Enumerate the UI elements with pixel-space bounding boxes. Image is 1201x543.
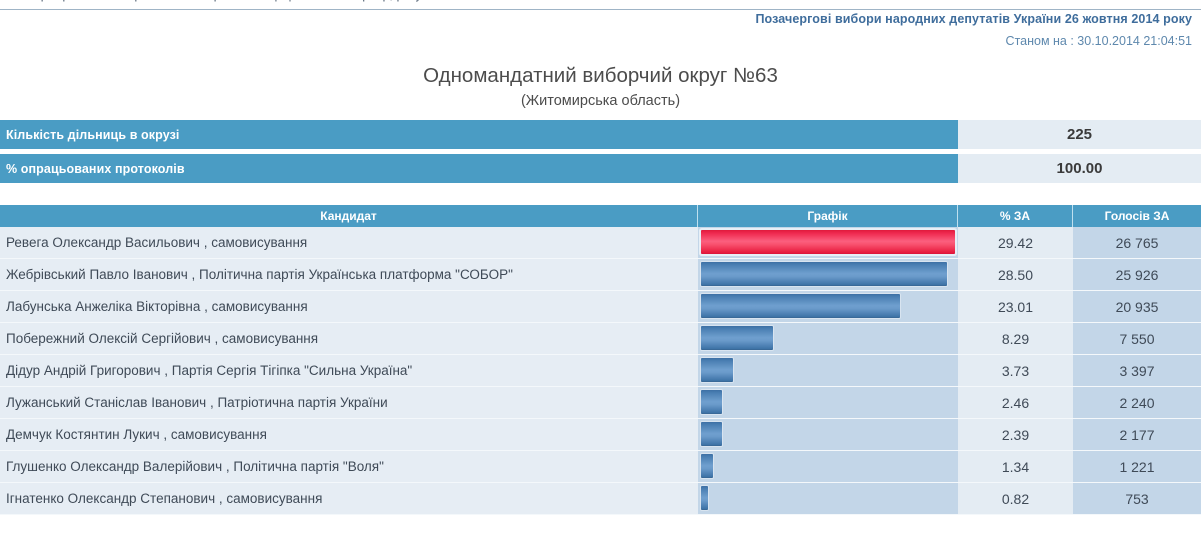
votes-value: 20 935 (1073, 291, 1201, 323)
result-bar (701, 326, 773, 350)
result-bar-track (698, 291, 958, 323)
results-table: Кандидат Графік % ЗА Голосів ЗА Ревега О… (0, 205, 1201, 515)
percent-value: 8.29 (958, 323, 1073, 355)
result-bar-track (698, 387, 958, 419)
top-cutoff-strip: Центральна виборча комісія України — офі… (0, 0, 1201, 10)
result-bar-track (698, 419, 958, 451)
column-header-percent[interactable]: % ЗА (958, 205, 1073, 227)
result-bar (701, 262, 947, 286)
result-bar (701, 454, 713, 478)
table-row[interactable]: Побережний Олексій Сергійович , самовису… (0, 323, 1201, 355)
candidate-name: Демчук Костянтин Лукич , самовисування (0, 419, 698, 451)
votes-value: 2 240 (1073, 387, 1201, 419)
votes-value: 26 765 (1073, 227, 1201, 259)
percent-value: 23.01 (958, 291, 1073, 323)
page-title: Одномандатний виборчий округ №63 (0, 63, 1201, 89)
result-bar-track (698, 451, 958, 483)
candidate-name: Ігнатенко Олександр Степанович , самовис… (0, 483, 698, 515)
candidate-name: Глушенко Олександр Валерійович , Політич… (0, 451, 698, 483)
result-bar-winner (701, 230, 955, 254)
column-header-votes[interactable]: Голосів ЗА (1073, 205, 1201, 227)
percent-value: 0.82 (958, 483, 1073, 515)
as-of-timestamp: Станом на : 30.10.2014 21:04:51 (0, 33, 1201, 49)
result-bar (701, 486, 708, 510)
summary-row: % опрацьованих протоколів 100.00 (0, 154, 1201, 183)
candidate-name: Дідур Андрій Григорович , Партія Сергія … (0, 355, 698, 387)
table-row[interactable]: Ігнатенко Олександр Степанович , самовис… (0, 483, 1201, 515)
percent-value: 2.46 (958, 387, 1073, 419)
percent-value: 28.50 (958, 259, 1073, 291)
table-row[interactable]: Лабунська Анжеліка Вікторівна , самовису… (0, 291, 1201, 323)
percent-value: 3.73 (958, 355, 1073, 387)
result-bar (701, 390, 722, 414)
table-row[interactable]: Глушенко Олександр Валерійович , Політич… (0, 451, 1201, 483)
percent-value: 1.34 (958, 451, 1073, 483)
candidate-name: Лужанський Станіслав Іванович , Патріоти… (0, 387, 698, 419)
votes-value: 2 177 (1073, 419, 1201, 451)
top-fragment-text: Центральна виборча комісія України — офі… (34, 0, 459, 2)
summary-label: % опрацьованих протоколів (0, 154, 958, 183)
votes-value: 3 397 (1073, 355, 1201, 387)
result-bar (701, 422, 722, 446)
votes-value: 1 221 (1073, 451, 1201, 483)
candidate-name: Жебрівський Павло Іванович , Політична п… (0, 259, 698, 291)
votes-value: 753 (1073, 483, 1201, 515)
district-region: (Житомирська область) (0, 91, 1201, 111)
table-body: Ревега Олександр Васильович , самовисува… (0, 227, 1201, 515)
candidate-name: Побережний Олексій Сергійович , самовису… (0, 323, 698, 355)
percent-value: 29.42 (958, 227, 1073, 259)
percent-value: 2.39 (958, 419, 1073, 451)
column-header-chart[interactable]: Графік (698, 205, 958, 227)
table-row[interactable]: Демчук Костянтин Лукич , самовисування2.… (0, 419, 1201, 451)
result-bar-track (698, 227, 958, 259)
votes-value: 25 926 (1073, 259, 1201, 291)
page-header: Позачергові вибори народних депутатів Ук… (0, 10, 1201, 111)
column-header-candidate[interactable]: Кандидат (0, 205, 698, 227)
votes-value: 7 550 (1073, 323, 1201, 355)
summary-panel: Кількість дільниць в окрузі 225 % опраць… (0, 120, 1201, 188)
candidate-name: Лабунська Анжеліка Вікторівна , самовису… (0, 291, 698, 323)
table-row[interactable]: Ревега Олександр Васильович , самовисува… (0, 227, 1201, 259)
table-row[interactable]: Жебрівський Павло Іванович , Політична п… (0, 259, 1201, 291)
table-row[interactable]: Лужанський Станіслав Іванович , Патріоти… (0, 387, 1201, 419)
election-title: Позачергові вибори народних депутатів Ук… (0, 10, 1201, 28)
result-bar (701, 358, 733, 382)
summary-row: Кількість дільниць в окрузі 225 (0, 120, 1201, 149)
result-bar-track (698, 355, 958, 387)
table-header-row: Кандидат Графік % ЗА Голосів ЗА (0, 205, 1201, 227)
summary-value: 100.00 (958, 154, 1201, 183)
result-bar (701, 294, 900, 318)
summary-value: 225 (958, 120, 1201, 149)
summary-label: Кількість дільниць в окрузі (0, 120, 958, 149)
result-bar-track (698, 259, 958, 291)
result-bar-track (698, 483, 958, 515)
table-row[interactable]: Дідур Андрій Григорович , Партія Сергія … (0, 355, 1201, 387)
result-bar-track (698, 323, 958, 355)
candidate-name: Ревега Олександр Васильович , самовисува… (0, 227, 698, 259)
